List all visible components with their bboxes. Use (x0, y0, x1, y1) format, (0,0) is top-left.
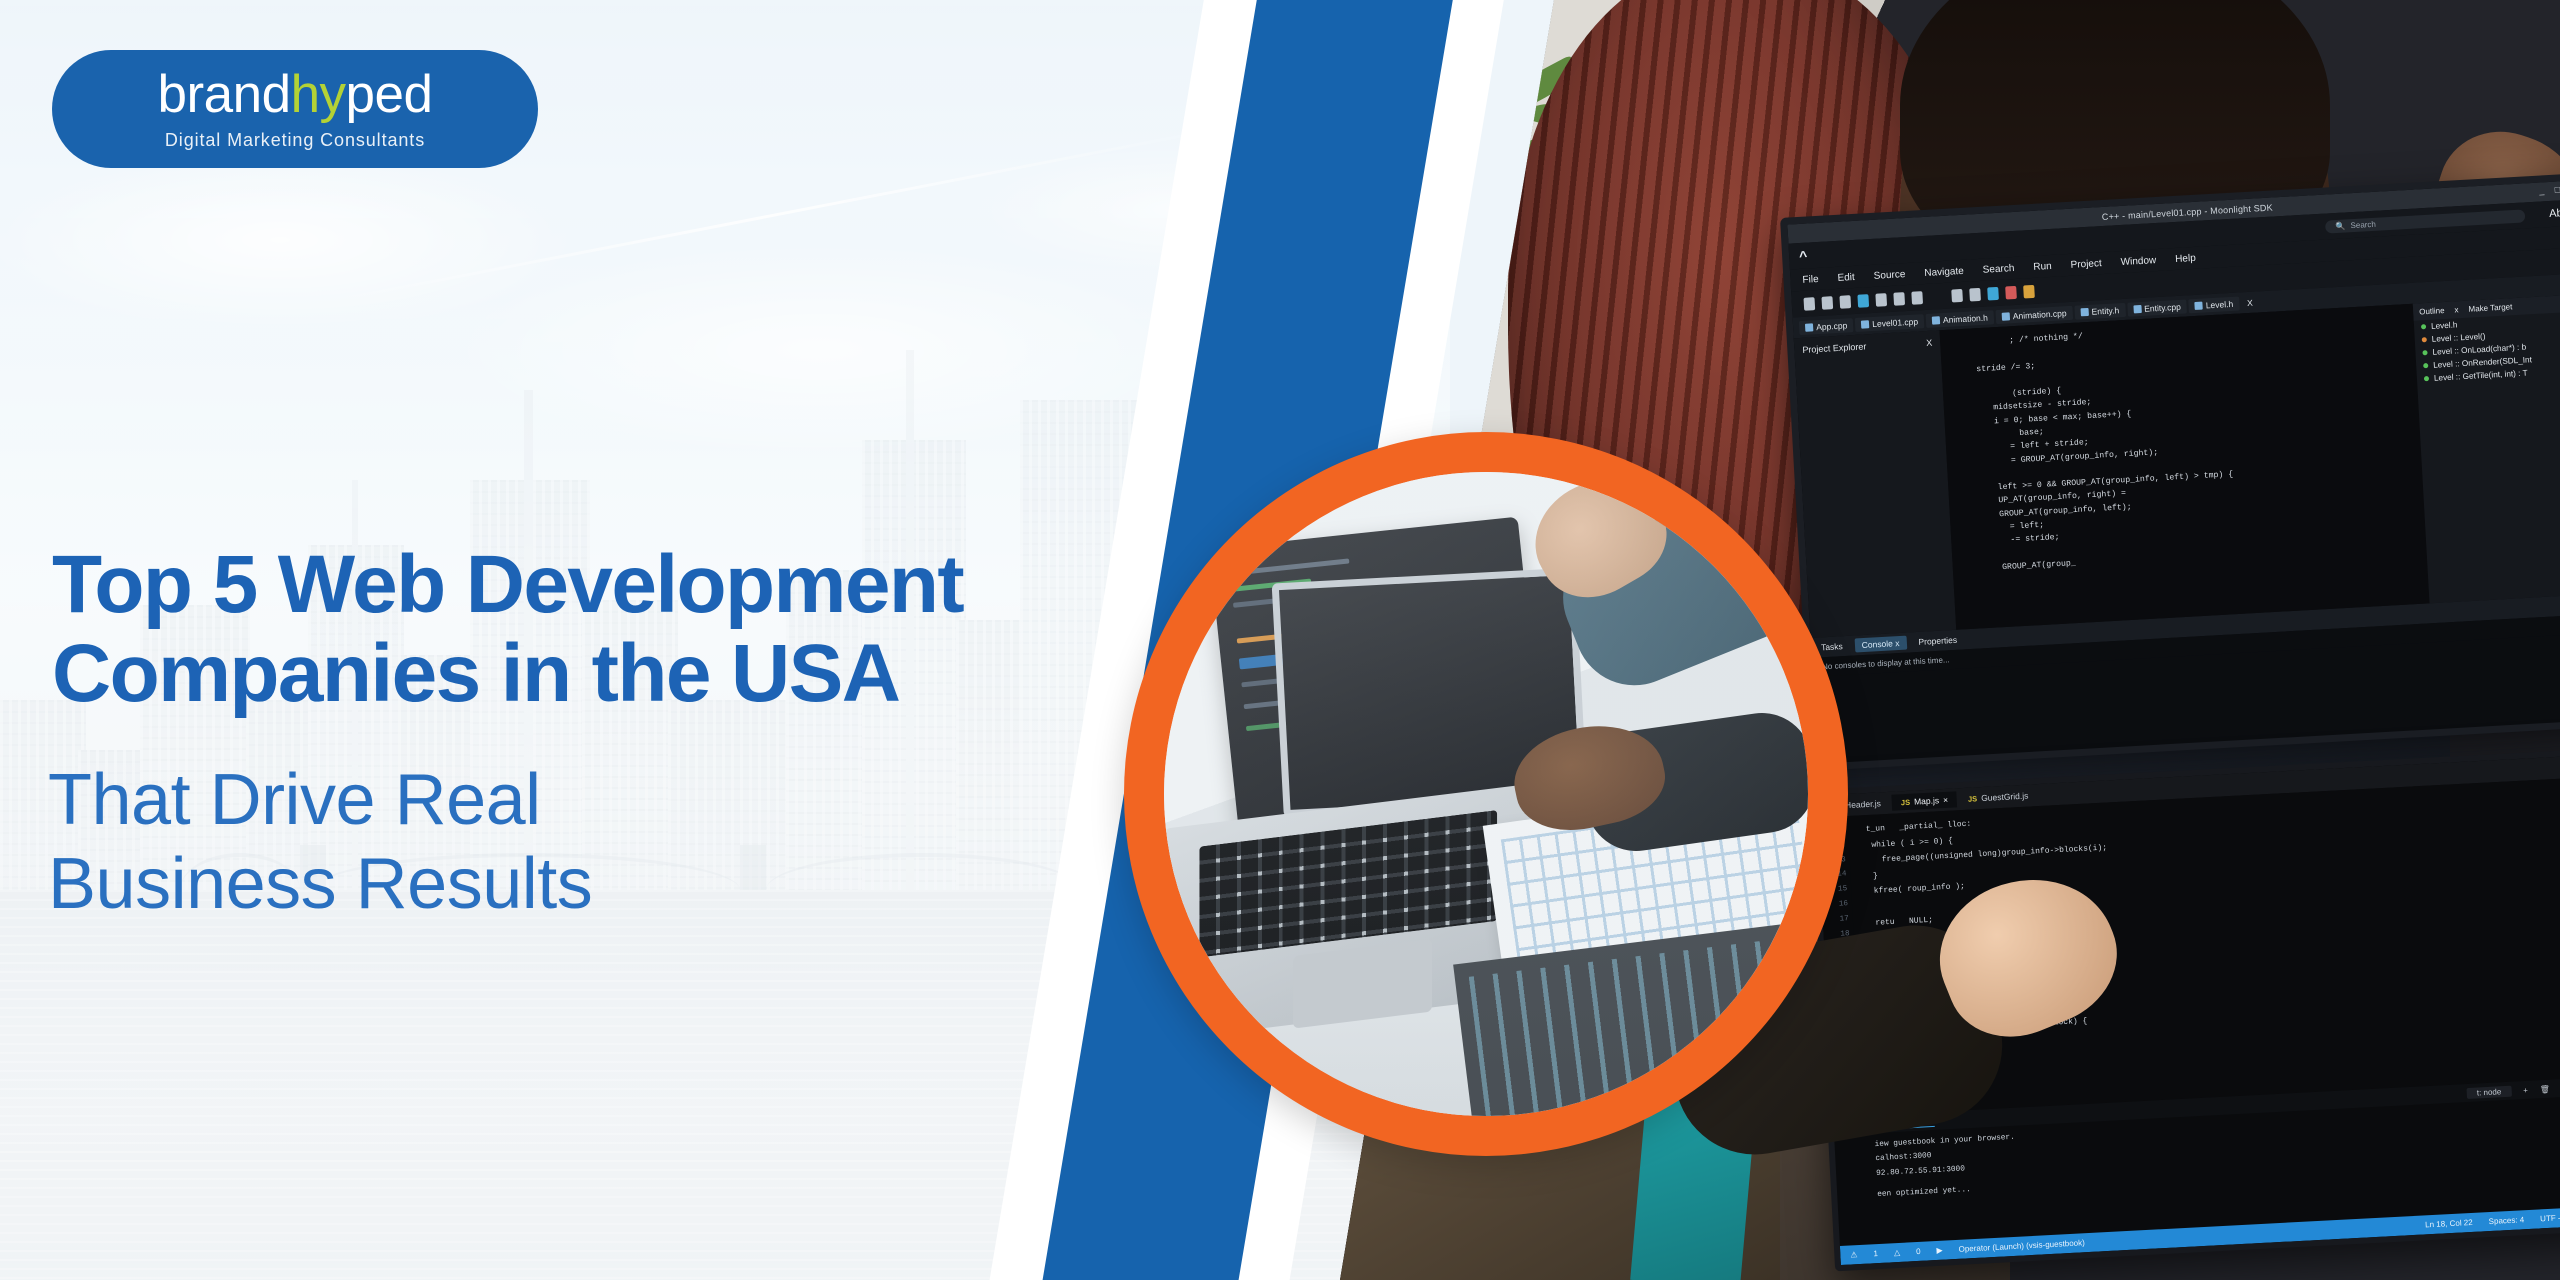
menu-item-source[interactable]: Source (1873, 269, 1905, 282)
cpp-code-editor[interactable]: ; /* nothing */ stride /= 3; (stride) { … (1940, 304, 2430, 630)
menu-item-help[interactable]: Help (2175, 252, 2196, 264)
plus-icon[interactable]: + (2523, 1085, 2528, 1094)
monitor-cpp-ide: C++ - main/Level01.cpp - Moonlight SDK _… (1780, 173, 2560, 772)
tab-level-h[interactable]: Level.h (2188, 296, 2239, 313)
project-explorer-label: Project Explorer (1802, 341, 1866, 355)
play-icon[interactable]: ▶ (1936, 1246, 1943, 1255)
cursor-position[interactable]: Ln 18, Col 22 (2425, 1218, 2473, 1229)
logo-text-ped: ped (346, 65, 433, 124)
logo-text-hy: hy (291, 65, 346, 124)
bug-icon[interactable] (2023, 284, 2035, 298)
tab-guestgrid-js[interactable]: JSGuestGrid.js (1959, 787, 2038, 807)
menu-item-run[interactable]: Run (2033, 260, 2052, 272)
window-controls[interactable]: _ □ X (2539, 183, 2560, 195)
headline-line-1: Top 5 Web Development (52, 540, 1182, 629)
brandhyped-logo[interactable]: brandhyped Digital Marketing Consultants (52, 50, 538, 168)
tab-animation-cpp[interactable]: Animation.cpp (1995, 305, 2073, 323)
ide-main-body: Project Explorer X ; /* nothing */ strid… (1794, 294, 2560, 638)
about-button[interactable]: About (2549, 206, 2560, 220)
tab-properties[interactable]: Properties (1918, 635, 1957, 647)
folder-icon[interactable] (1893, 292, 1905, 306)
search-icon: 🔍 (2335, 221, 2345, 231)
outline-close-icon[interactable]: x (2454, 305, 2458, 314)
menu-item-navigate[interactable]: Navigate (1924, 265, 1964, 278)
search-placeholder: Search (2350, 219, 2376, 229)
bookmark-icon[interactable] (1821, 296, 1833, 310)
copy-icon[interactable] (1839, 295, 1851, 309)
terminal-select[interactable]: t: node (2467, 1085, 2512, 1098)
menu-item-project[interactable]: Project (2070, 258, 2102, 271)
encoding[interactable]: UTF - 2 (2540, 1213, 2560, 1223)
tab-entity-h[interactable]: Entity.h (2074, 302, 2125, 319)
mobile-icon[interactable] (1987, 286, 1999, 300)
explorer-close-icon[interactable]: X (1926, 338, 1933, 348)
logo-wordmark: brandhyped (158, 68, 433, 121)
hero-banner: brandhyped Digital Marketing Consultants… (0, 0, 2560, 1280)
new-file-icon[interactable] (1803, 297, 1815, 311)
tab-tasks[interactable]: Tasks (1821, 641, 1843, 652)
chevron-up-icon[interactable]: ^ (1799, 248, 1808, 264)
logo-text-brand: brand (158, 65, 291, 124)
error-icon[interactable]: ⚠ (1850, 1250, 1858, 1259)
tab-outline[interactable]: Outline (2419, 306, 2445, 316)
compass-icon[interactable] (1911, 291, 1923, 305)
outline-panel: Outline x Make Target Level.h Level :: L… (2413, 294, 2560, 604)
warning-icon[interactable]: △ (1894, 1248, 1901, 1257)
circle-laptop-photo (1164, 472, 1808, 1116)
menu-item-edit[interactable]: Edit (1837, 271, 1855, 283)
trash-icon[interactable]: 🗑 (2540, 1084, 2551, 1094)
menu-item-search[interactable]: Search (1982, 263, 2014, 276)
tab-make-target[interactable]: Make Target (2468, 302, 2512, 313)
launch-config[interactable]: Operator (Launch) (vsis-guestbook) (1958, 1238, 2085, 1254)
tab-map-js[interactable]: JSMap.js× (1891, 791, 1957, 810)
device-icon[interactable] (1875, 293, 1887, 307)
logo-tagline: Digital Marketing Consultants (165, 130, 425, 151)
record-icon[interactable] (2005, 285, 2017, 299)
tab-app-cpp[interactable]: App.cpp (1799, 318, 1854, 335)
print-icon[interactable] (1857, 294, 1869, 308)
warning-count: 0 (1916, 1247, 1921, 1256)
page-subtitle: That Drive Real Business Results (48, 758, 1048, 926)
subhead-line-2: Business Results (48, 842, 1048, 926)
subhead-line-1: That Drive Real (48, 758, 1048, 842)
page-title: Top 5 Web Development Companies in the U… (52, 540, 1182, 719)
user-icon[interactable] (1951, 288, 1963, 302)
headline-line-2: Companies in the USA (52, 629, 1182, 718)
project-explorer-panel[interactable]: Project Explorer X (1794, 330, 1957, 638)
tab-level01-cpp[interactable]: Level01.cpp (1855, 314, 1925, 332)
menu-item-file[interactable]: File (1802, 273, 1819, 285)
tab-entity-cpp[interactable]: Entity.cpp (2127, 299, 2187, 316)
tab-animation-h[interactable]: Animation.h (1926, 310, 1995, 328)
document-icon[interactable] (1969, 287, 1981, 301)
indent-setting[interactable]: Spaces: 4 (2488, 1215, 2524, 1226)
error-count: 1 (1873, 1249, 1878, 1258)
tab-console[interactable]: Console x (1854, 636, 1907, 653)
tabs-close-icon[interactable]: X (2247, 297, 2253, 307)
menu-item-window[interactable]: Window (2120, 255, 2156, 268)
